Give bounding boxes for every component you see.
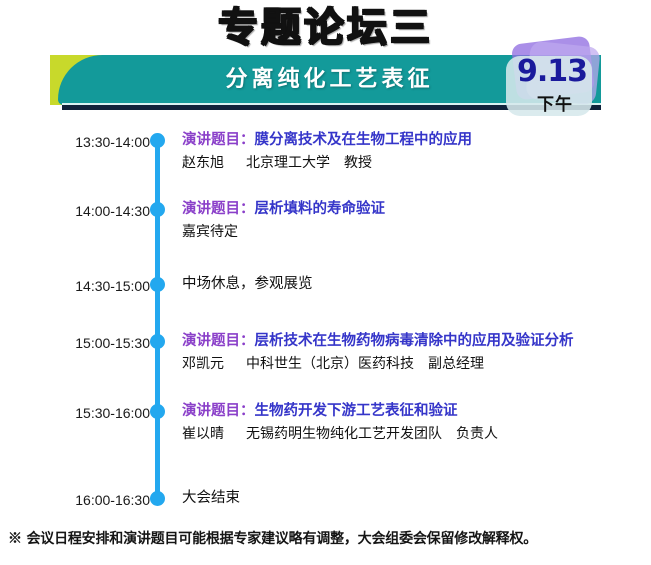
- badge-period: 下午: [506, 90, 604, 115]
- topic-label: 演讲题目：: [182, 403, 255, 419]
- timeline-dot: [150, 277, 165, 292]
- speaker-name: 赵东旭: [182, 155, 224, 171]
- speaker-title: 教授: [344, 155, 372, 171]
- timeline-dot: [150, 334, 165, 349]
- session-speaker: 赵东旭北京理工大学教授: [182, 153, 642, 173]
- timeline-time: 15:30-16:00: [30, 405, 150, 421]
- timeline-content: 大会结束: [182, 488, 642, 508]
- session-speaker: 崔以晴无锡药明生物纯化工艺开发团队负责人: [182, 424, 642, 444]
- timeline-time: 15:00-15:30: [30, 335, 150, 351]
- timeline-time: 13:30-14:00: [30, 134, 150, 150]
- speaker-name: 崔以晴: [182, 426, 224, 442]
- speaker-org: 北京理工大学: [246, 155, 330, 171]
- speaker-org: 中科世生（北京）医药科技: [246, 356, 414, 372]
- topic-text: 膜分离技术及在生物工程中的应用: [255, 132, 473, 148]
- speaker-name: 嘉宾待定: [182, 224, 238, 240]
- agenda-timeline: 13:30-14:00 演讲题目：膜分离技术及在生物工程中的应用 赵东旭北京理工…: [0, 126, 651, 511]
- timeline-time: 14:00-14:30: [30, 203, 150, 219]
- timeline-content: 演讲题目：生物药开发下游工艺表征和验证 崔以晴无锡药明生物纯化工艺开发团队负责人: [182, 401, 642, 444]
- session-plain-text: 大会结束: [182, 488, 642, 508]
- speaker-name: 邓凯元: [182, 356, 224, 372]
- timeline-content: 演讲题目：层析填料的寿命验证 嘉宾待定: [182, 199, 642, 242]
- session-topic: 演讲题目：层析技术在生物药物病毒清除中的应用及验证分析: [182, 331, 642, 351]
- timeline-time: 16:00-16:30: [30, 492, 150, 508]
- timeline-dot: [150, 202, 165, 217]
- timeline-dot: [150, 133, 165, 148]
- timeline-content: 中场休息，参观展览: [182, 274, 642, 294]
- speaker-title: 副总经理: [428, 356, 484, 372]
- session-speaker: 邓凯元中科世生（北京）医药科技副总经理: [182, 354, 642, 374]
- session-plain-text: 中场休息，参观展览: [182, 274, 642, 294]
- timeline-content: 演讲题目：膜分离技术及在生物工程中的应用 赵东旭北京理工大学教授: [182, 130, 642, 173]
- timeline-line: [155, 142, 160, 504]
- session-topic: 演讲题目：生物药开发下游工艺表征和验证: [182, 401, 642, 421]
- topic-text: 层析技术在生物药物病毒清除中的应用及验证分析: [255, 333, 574, 349]
- session-topic: 演讲题目：层析填料的寿命验证: [182, 199, 642, 219]
- topic-text: 生物药开发下游工艺表征和验证: [255, 403, 458, 419]
- speaker-title: 负责人: [456, 426, 498, 442]
- footnote: ※ 会议日程安排和演讲题目可能根据专家建议略有调整，大会组委会保留修改解释权。: [8, 528, 648, 548]
- timeline-dot: [150, 491, 165, 506]
- timeline-content: 演讲题目：层析技术在生物药物病毒清除中的应用及验证分析 邓凯元中科世生（北京）医…: [182, 331, 642, 374]
- timeline-time: 14:30-15:00: [30, 278, 150, 294]
- topic-label: 演讲题目：: [182, 201, 255, 217]
- topic-text: 层析填料的寿命验证: [255, 201, 386, 217]
- session-topic: 演讲题目：膜分离技术及在生物工程中的应用: [182, 130, 642, 150]
- badge-date: 9.13: [506, 54, 598, 89]
- topic-label: 演讲题目：: [182, 333, 255, 349]
- date-badge: 9.13 下午: [500, 38, 610, 118]
- timeline-dot: [150, 404, 165, 419]
- session-speaker: 嘉宾待定: [182, 222, 642, 242]
- speaker-org: 无锡药明生物纯化工艺开发团队: [246, 426, 442, 442]
- topic-label: 演讲题目：: [182, 132, 255, 148]
